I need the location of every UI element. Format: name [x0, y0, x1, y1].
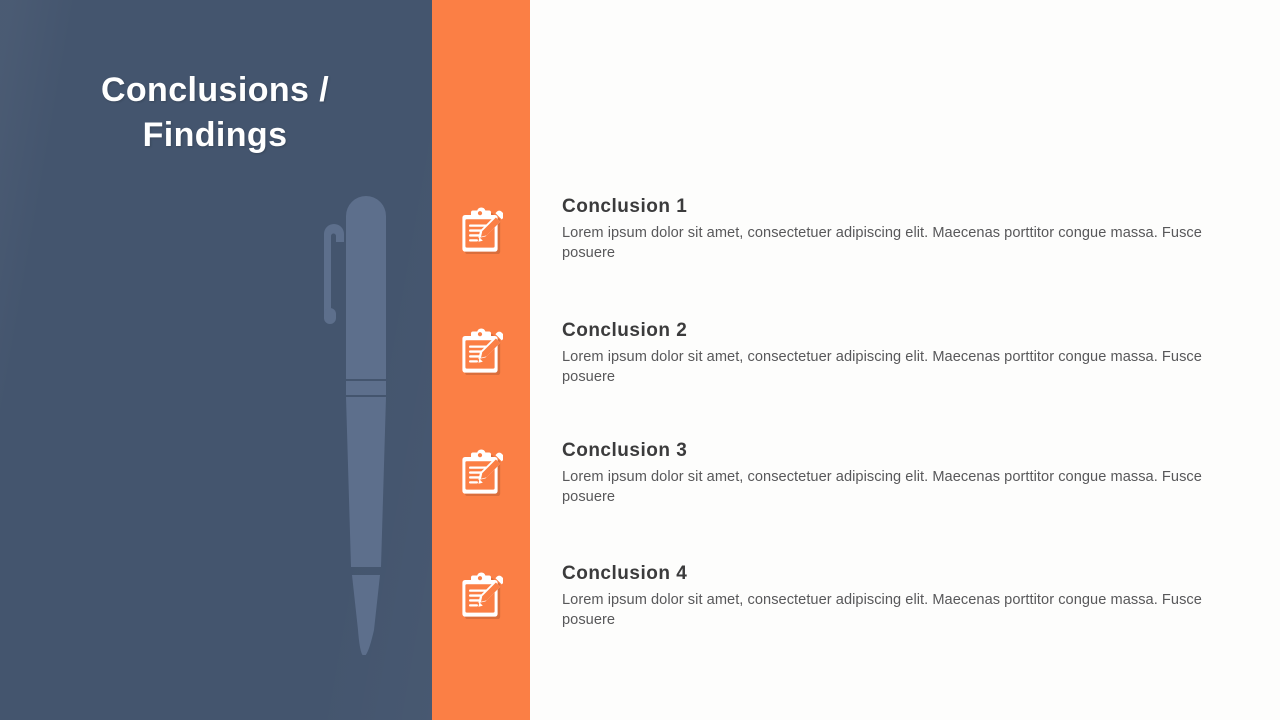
page-title: Conclusions / Findings	[50, 68, 380, 158]
content-column: Conclusion 1 Lorem ipsum dolor sit amet,…	[530, 0, 1280, 720]
clipboard-pencil-icon	[459, 327, 503, 375]
conclusion-body: Lorem ipsum dolor sit amet, consectetuer…	[562, 224, 1252, 263]
list-item: Conclusion 2 Lorem ipsum dolor sit amet,…	[562, 319, 1252, 387]
icon-slot-1	[432, 202, 530, 258]
conclusion-body: Lorem ipsum dolor sit amet, consectetuer…	[562, 591, 1252, 630]
conclusion-heading: Conclusion 3	[562, 439, 1252, 462]
clipboard-pencil-icon	[459, 448, 503, 496]
conclusion-heading: Conclusion 1	[562, 195, 1252, 218]
pen-illustration-icon	[300, 190, 430, 655]
clipboard-pencil-icon	[459, 206, 503, 254]
icon-slot-4	[432, 567, 530, 623]
conclusion-body: Lorem ipsum dolor sit amet, consectetuer…	[562, 468, 1252, 507]
conclusion-heading: Conclusion 4	[562, 562, 1252, 585]
list-item: Conclusion 1 Lorem ipsum dolor sit amet,…	[562, 195, 1252, 263]
icon-slot-2	[432, 323, 530, 379]
clipboard-pencil-icon	[459, 571, 503, 619]
icon-slot-3	[432, 444, 530, 500]
list-item: Conclusion 3 Lorem ipsum dolor sit amet,…	[562, 439, 1252, 507]
list-item: Conclusion 4 Lorem ipsum dolor sit amet,…	[562, 562, 1252, 630]
left-panel: Conclusions / Findings	[0, 0, 432, 720]
slide-conclusions-findings: Conclusions / Findings	[0, 0, 1280, 720]
conclusion-body: Lorem ipsum dolor sit amet, consectetuer…	[562, 348, 1252, 387]
conclusion-heading: Conclusion 2	[562, 319, 1252, 342]
